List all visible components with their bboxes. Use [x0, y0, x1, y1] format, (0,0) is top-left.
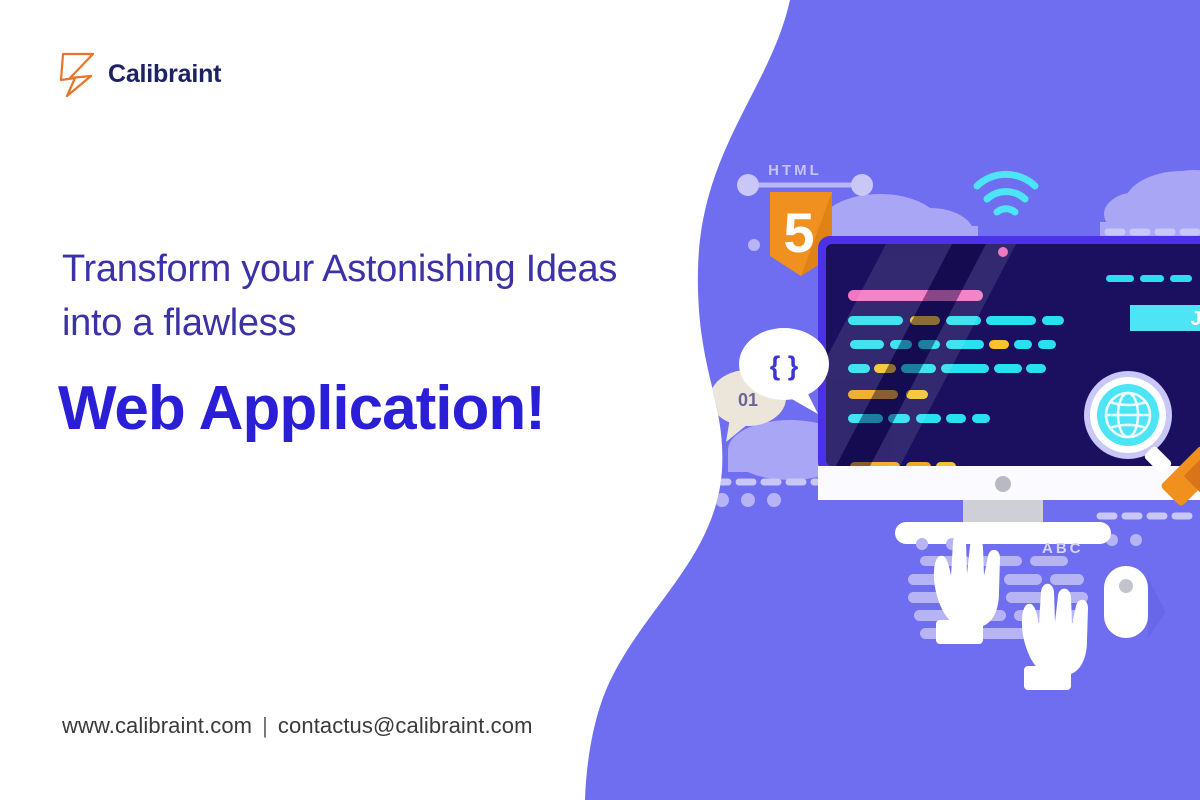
curly-braces-bubble-text: { } — [770, 351, 799, 381]
headline-emphasis: Web Application! — [58, 378, 545, 440]
headline-line-1: Transform your Astonishing Ideas — [62, 243, 682, 297]
brand-logo[interactable]: Calibraint — [58, 48, 221, 100]
keyboard-label: ABC — [1042, 540, 1084, 557]
js-tag-label: J — [1190, 308, 1200, 330]
brand-name: Calibraint — [108, 60, 221, 89]
monitor-power-dot — [995, 476, 1011, 492]
marketing-banner: HTML 5 — [0, 0, 1200, 800]
html5-badge-version: 5 — [783, 201, 814, 264]
screen-led — [998, 247, 1008, 257]
html5-badge-label: HTML — [768, 162, 822, 179]
contact-footer: www.calibraint.com|contactus@calibraint.… — [62, 713, 533, 739]
lightning-bolt-z-icon — [58, 48, 98, 100]
headline-line-2: into a flawless — [62, 297, 682, 351]
footer-separator: | — [252, 713, 278, 738]
website-link[interactable]: www.calibraint.com — [62, 713, 252, 738]
js-tag: J — [1130, 305, 1200, 331]
binary-bubble-text: 01 — [738, 390, 758, 410]
headline-block: Transform your Astonishing Ideas into a … — [62, 243, 682, 351]
email-link[interactable]: contactus@calibraint.com — [278, 713, 533, 738]
